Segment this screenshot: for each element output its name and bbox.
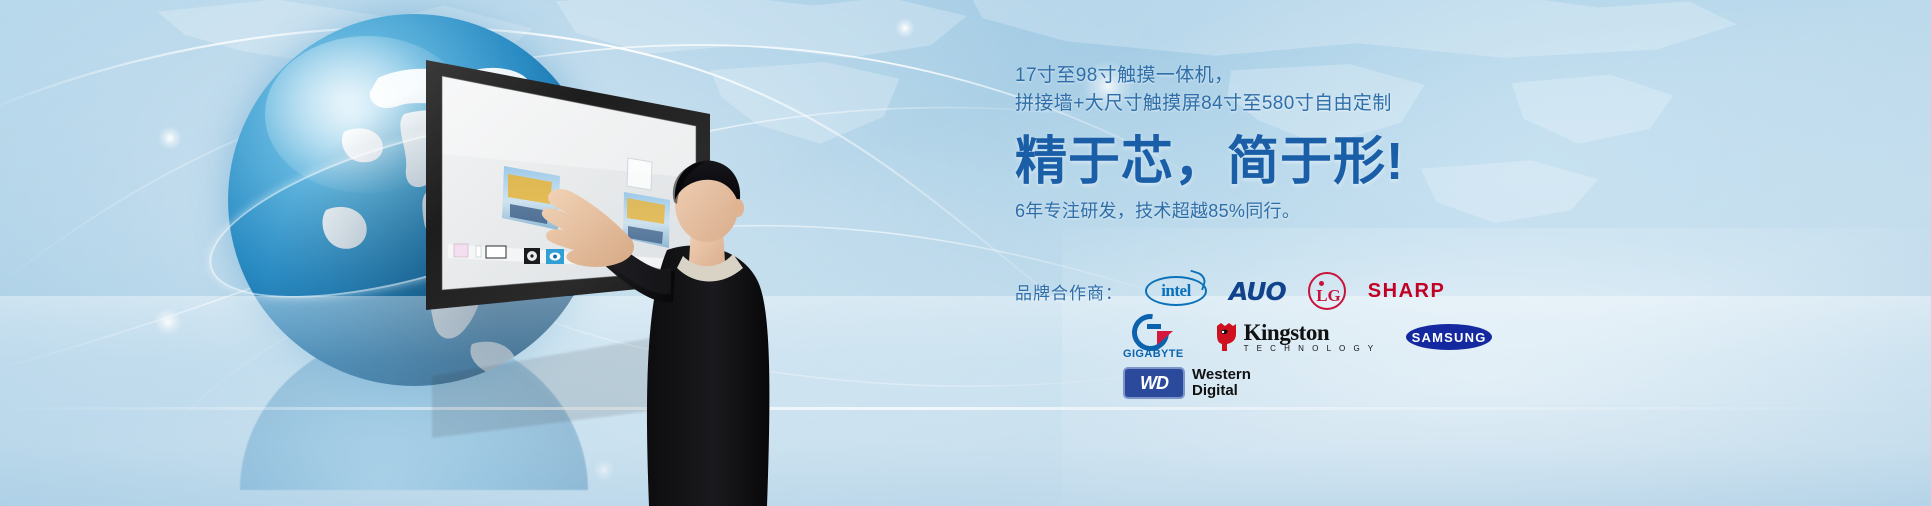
taskbar-icon-photos <box>454 244 468 257</box>
lg-logo-text: LG <box>1316 286 1341 306</box>
intel-logo-text: intel <box>1161 281 1191 301</box>
gigabyte-mark-icon <box>1132 314 1174 346</box>
partners-row-2: GIGABYTE Kingston T E C H N O L O G Y SA… <box>1015 314 1495 360</box>
brand-partners: 品牌合作商： intel AUO LG SHARP GIGABYTE <box>1015 268 1495 406</box>
sub-line-1: 17寸至98寸触摸一体机， <box>1015 62 1445 90</box>
kingston-logo-text: Kingston <box>1244 321 1376 344</box>
kingston-logo-subtext: T E C H N O L O G Y <box>1244 345 1376 353</box>
kingston-king-icon <box>1214 322 1240 352</box>
wd-line-2: Digital <box>1192 383 1251 399</box>
lg-logo: LG <box>1308 272 1346 310</box>
auo-logo: AUO <box>1229 277 1286 306</box>
hero-banner: 17寸至98寸触摸一体机， 拼接墙+大尺寸触摸屏84寸至580寸自由定制 精于芯… <box>0 0 1931 506</box>
taskbar-icon-video <box>486 246 506 258</box>
partners-row-1: 品牌合作商： intel AUO LG SHARP <box>1015 268 1495 314</box>
banner-copy: 17寸至98寸触摸一体机， 拼接墙+大尺寸触摸屏84寸至580寸自由定制 精于芯… <box>1015 62 1445 224</box>
wd-badge-text: WD <box>1123 367 1185 399</box>
sharp-logo: SHARP <box>1368 280 1446 303</box>
banner-headline: 精于芯，简于形! <box>1015 132 1445 192</box>
sub-line-2: 拼接墙+大尺寸触摸屏84寸至580寸自由定制 <box>1015 90 1445 118</box>
banner-tagline: 6年专注研发，技术超越85%同行。 <box>1015 198 1445 224</box>
taskbar-icon-doc <box>476 246 481 257</box>
wd-line-1: Western <box>1192 367 1251 383</box>
intel-logo: intel <box>1145 276 1207 306</box>
gigabyte-logo: GIGABYTE <box>1123 314 1184 360</box>
western-digital-logo: WD Western Digital <box>1123 367 1251 399</box>
hand-on-screen <box>520 178 640 274</box>
partners-label: 品牌合作商： <box>1015 279 1123 304</box>
partners-row-3: WD Western Digital <box>1015 360 1495 406</box>
kingston-logo: Kingston T E C H N O L O G Y <box>1214 321 1376 353</box>
samsung-logo: SAMSUNG <box>1406 324 1492 350</box>
